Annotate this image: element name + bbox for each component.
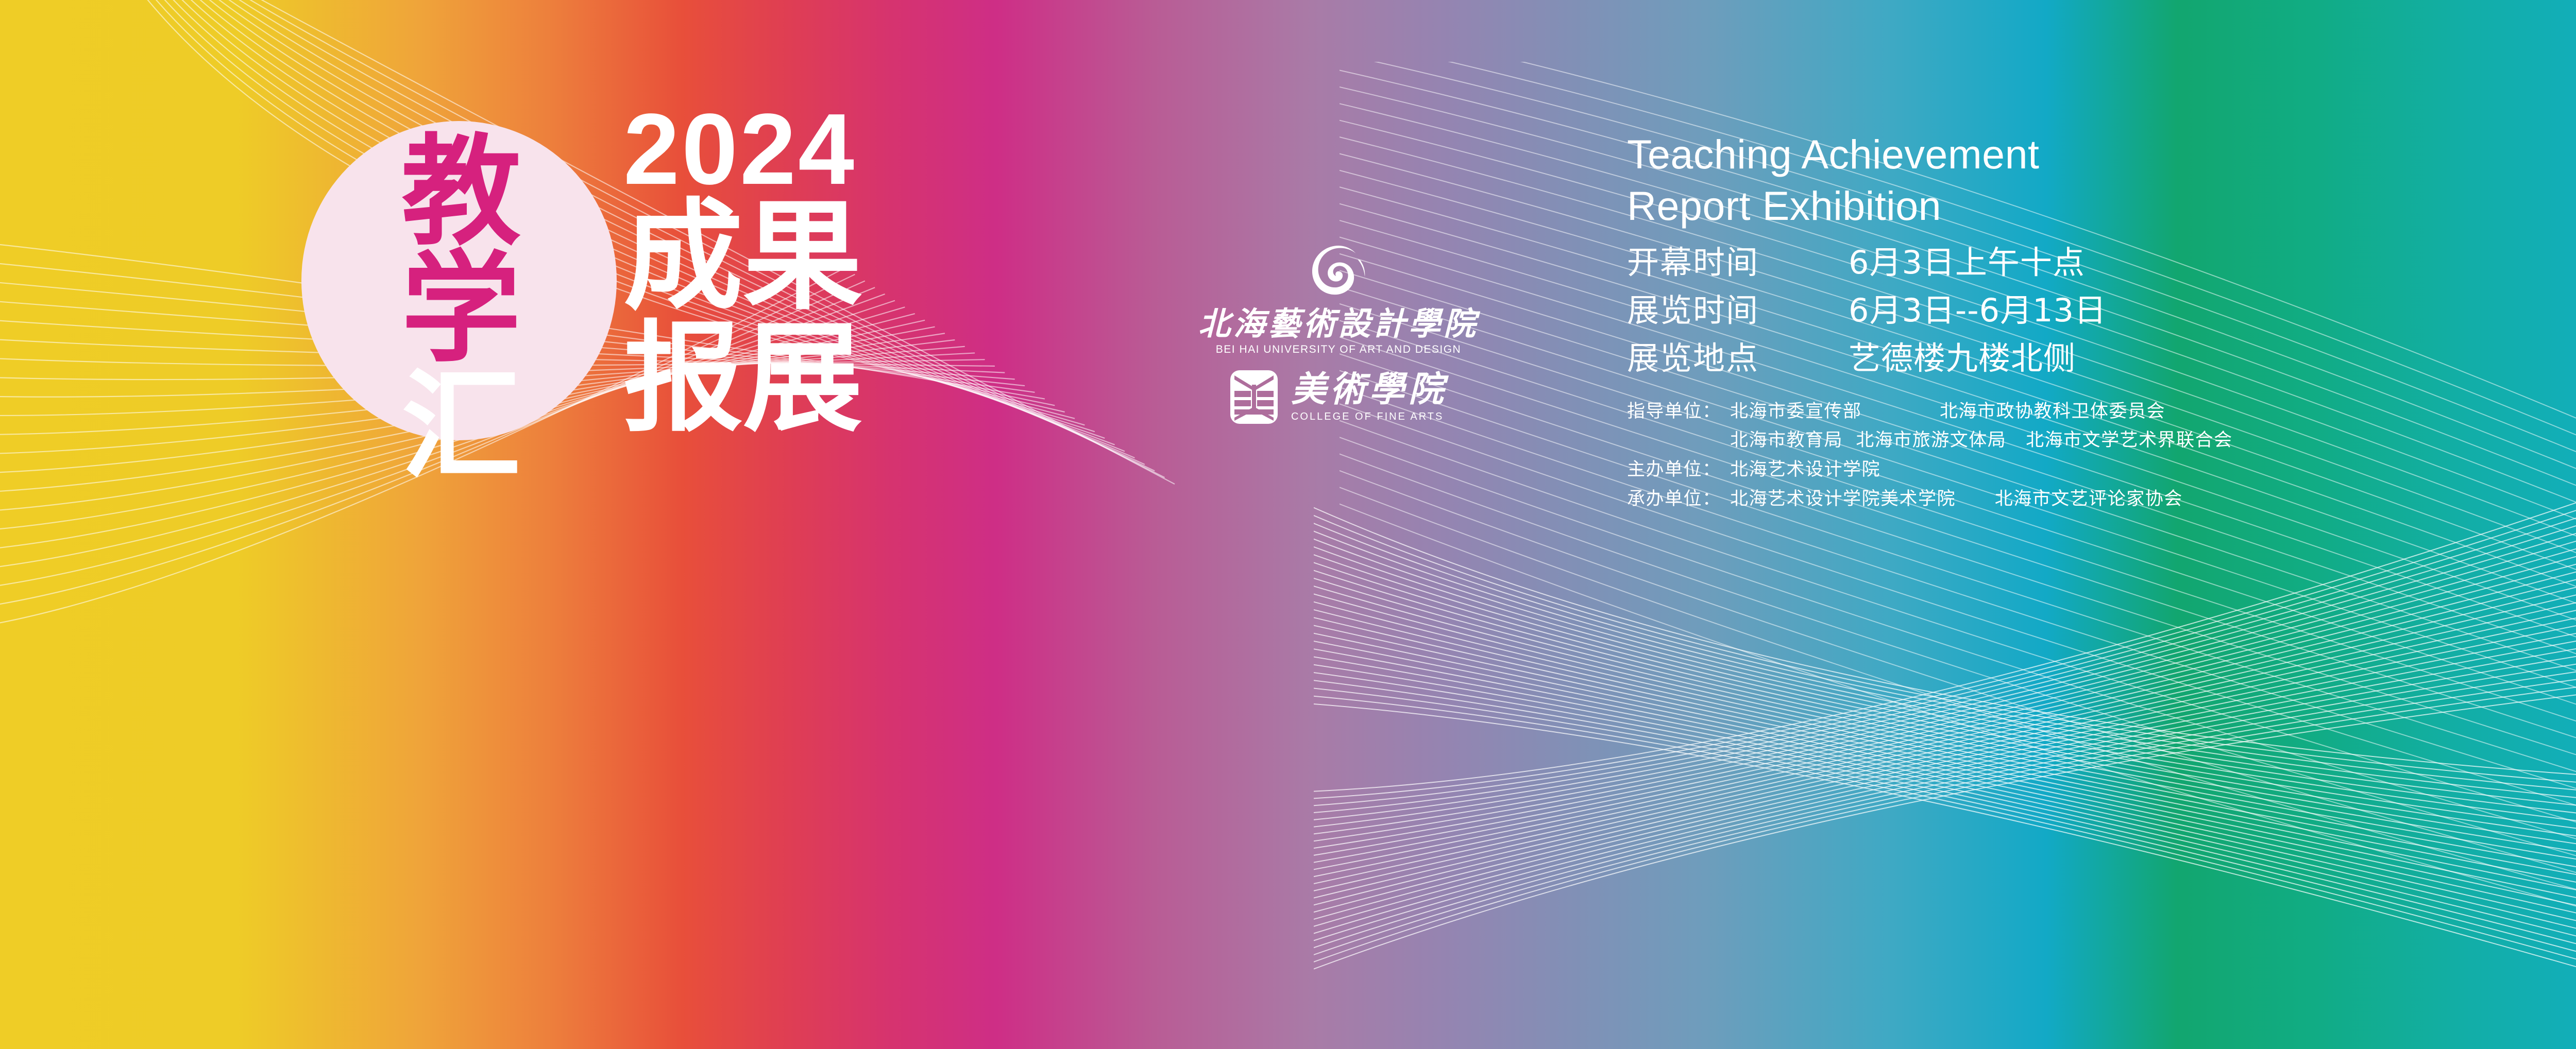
info-value-opening-time: 6月3日上午十点 [1849,244,2085,281]
logo-university-en: BEI HAI UNIVERSITY OF ART AND DESIGN [1174,343,1503,356]
banner-canvas: 教 学 汇 2024 成果 报展 北海藝術設計學院 BEI HAI UNIVER… [0,0,2576,1049]
char-hui: 汇 [401,368,521,485]
char-xue: 学 [401,251,521,368]
info-row-opening: 开幕时间 6月3日上午十点 [1627,244,2544,281]
info-label-exhibition-time: 展览时间 [1627,291,1849,329]
title-line-1: 成果 [623,196,1061,318]
organizer-body-guidance: 北海市委宣传部 北海市政协教科卫体委员会 [1730,397,2165,426]
logotype-block: 教 学 汇 2024 成果 报展 [289,103,1061,618]
organizer-row-guidance-cont: 北海市教育局 北海市旅游文体局 北海市文学艺术界联合会 [1627,426,2544,455]
info-row-duration: 展览时间 6月3日--6月13日 [1627,291,2544,329]
info-value-exhibition-time: 6月3日--6月13日 [1849,291,2107,329]
info-label-opening-time: 开幕时间 [1627,244,1849,281]
vertical-char-stack: 教 学 汇 [337,134,585,485]
char-jiao: 教 [401,134,521,251]
logo-fine-arts-en: COLLEGE OF FINE ARTS [1291,411,1448,423]
organizer-row-organizer: 承办单位： 北海艺术设计学院美术学院 北海市文艺评论家协会 [1627,485,2544,514]
info-value-venue: 艺德楼九楼北侧 [1849,339,2076,377]
title-right-column: 2024 成果 报展 [623,103,1061,440]
logo-fine-arts-cn: 美術學院 [1291,371,1448,408]
organizer-label-organizer: 承办单位： [1627,485,1730,514]
organizer-body-host: 北海艺术设计学院 [1730,455,1880,485]
logo-fine-arts: 美術學院 COLLEGE OF FINE ARTS [1174,369,1503,425]
organizer-row-guidance: 指导单位： 北海市委宣传部 北海市政协教科卫体委员会 [1627,397,2544,426]
info-row-venue: 展览地点 艺德楼九楼北侧 [1627,339,2544,377]
fine-arts-seal-icon [1229,369,1279,425]
organizer-label-host: 主办单位： [1627,455,1730,485]
english-title: Teaching Achievement Report Exhibition [1627,129,2544,231]
year-label: 2024 [623,103,1061,196]
organizer-row-host: 主办单位： 北海艺术设计学院 [1627,455,2544,485]
info-label-venue: 展览地点 [1627,339,1849,377]
info-panel: Teaching Achievement Report Exhibition 开… [1627,129,2544,513]
organizer-body-organizer: 北海艺术设计学院美术学院 北海市文艺评论家协会 [1730,485,2183,514]
organizer-label-guidance: 指导单位： [1627,397,1730,426]
logo-university-cn: 北海藝術設計學院 [1174,307,1503,340]
title-line-2: 报展 [623,318,1061,440]
school-logos: 北海藝術設計學院 BEI HAI UNIVERSITY OF ART AND D… [1174,242,1503,438]
logo-fine-arts-text: 美術學院 COLLEGE OF FINE ARTS [1291,371,1448,423]
logo-university: 北海藝術設計學院 BEI HAI UNIVERSITY OF ART AND D… [1174,242,1503,356]
swirl-icon [1309,242,1368,302]
organizer-list: 指导单位： 北海市委宣传部 北海市政协教科卫体委员会 北海市教育局 北海市旅游文… [1627,397,2544,514]
